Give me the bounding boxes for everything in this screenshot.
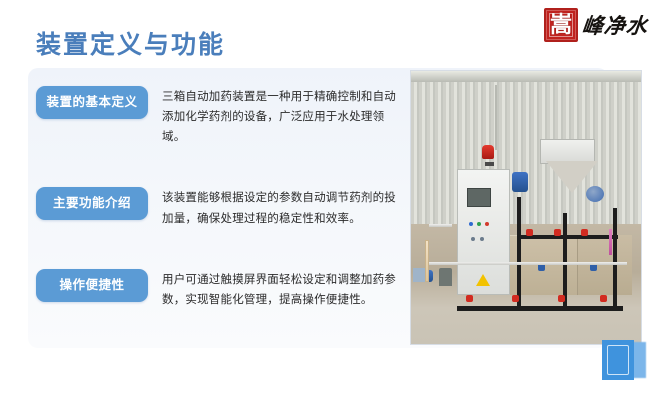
photo-pipe-manifold [457,306,623,311]
photo-mast [495,85,497,151]
photo-indicator-blue [469,222,473,226]
photo-indicator-green [477,222,481,226]
photo-pipe-v3 [613,208,617,306]
photo-beacon-base [485,162,494,166]
photo-valve-4 [466,295,473,302]
bullet-list: 装置的基本定义 三箱自动加药装置是一种用于精确控制和自动添加化学药剂的设备，广泛… [36,86,406,310]
photo-motor-2 [586,186,604,202]
bullet-text-2: 该装置能够根据设定的参数自动调节药剂的投加量，确保处理过程的稳定性和效率。 [162,188,406,228]
slide-root: 嵩 峰净水 装置定义与功能 装置的基本定义 三箱自动加药装置是一种用于精确控制和… [0,0,660,400]
decorative-squares-icon [602,340,646,384]
product-photo [410,70,642,345]
page-title: 装置定义与功能 [36,32,225,60]
photo-control-cabinet [457,169,510,295]
photo-hmi-screen [467,188,490,208]
list-item: 操作便捷性 用户可通过触摸屏界面轻松设定和调整加药参数，实现智能化管理，提高操作… [36,269,406,310]
photo-valve-6 [558,295,565,302]
photo-beacon-light [482,145,494,159]
photo-wall [411,71,641,224]
photo-valve-5 [512,295,519,302]
bullet-label-3[interactable]: 操作便捷性 [36,269,148,302]
photo-valve-1 [526,229,533,236]
photo-level-scale [425,240,429,282]
photo-pipe-v1 [517,197,521,306]
seal-icon: 嵩 [544,8,578,42]
photo-switch-2 [480,237,484,241]
photo-switch-1 [471,237,475,241]
brand-wordmark: 峰净水 [581,15,649,36]
list-item: 装置的基本定义 三箱自动加药装置是一种用于精确控制和自动添加化学药剂的设备，广泛… [36,86,406,147]
photo-canvas [411,71,641,344]
seal-character: 嵩 [550,14,572,36]
bullet-label-2[interactable]: 主要功能介绍 [36,187,148,220]
bullet-text-1: 三箱自动加药装置是一种用于精确控制和自动添加化学药剂的设备，广泛应用于水处理领域… [162,87,406,147]
photo-motor-1 [512,172,528,192]
list-item: 主要功能介绍 该装置能够根据设定的参数自动调节药剂的投加量，确保处理过程的稳定性… [36,187,406,228]
photo-frame-rail-2 [429,224,452,227]
photo-indicator-red [485,222,489,226]
photo-valve-7 [600,295,607,302]
photo-warning-triangle-icon [476,274,490,286]
photo-flow-gauge [609,229,612,255]
photo-misc-equipment-1 [413,268,425,282]
bullet-text-3: 用户可通过触摸屏界面轻松设定和调整加药参数，实现智能化管理，提高操作便捷性。 [162,270,406,310]
photo-frame-rail-1 [429,262,627,265]
bullet-label-1[interactable]: 装置的基本定义 [36,86,148,119]
photo-pipe-v2 [563,213,567,306]
photo-wall-trim [411,71,641,82]
brand-logo: 嵩 峰净水 [544,8,648,42]
photo-valve-2 [554,229,561,236]
photo-misc-equipment-2 [439,268,452,286]
photo-valve-3 [581,229,588,236]
decorative-square-front [602,340,634,380]
